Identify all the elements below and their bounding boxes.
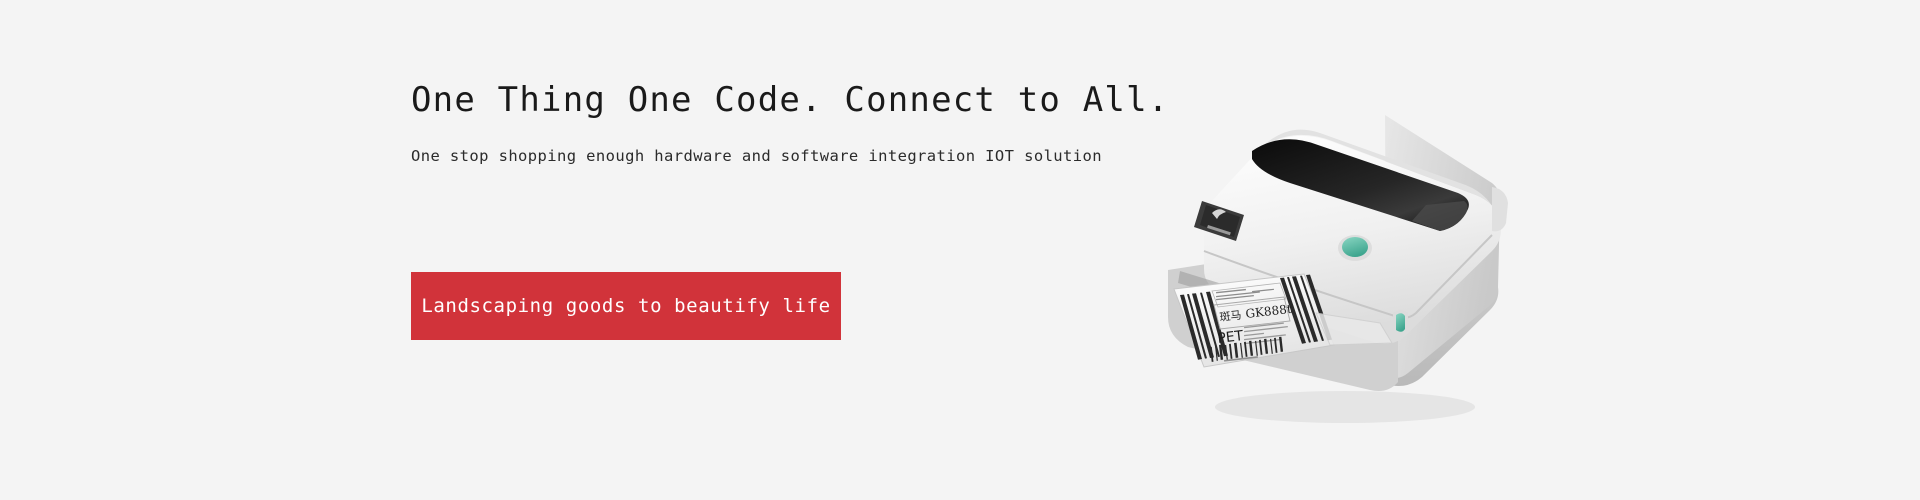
- page-title: One Thing One Code. Connect to All.: [411, 78, 1171, 122]
- hero-banner: One Thing One Code. Connect to All. One …: [0, 0, 1920, 500]
- cta-button-label: Landscaping goods to beautify life: [421, 295, 830, 317]
- product-shadow: [1215, 391, 1475, 423]
- hero-copy-block: One Thing One Code. Connect to All. One …: [411, 78, 1171, 168]
- power-button[interactable]: [1396, 313, 1405, 332]
- printer-rear-nub: [1492, 187, 1508, 231]
- cta-button[interactable]: Landscaping goods to beautify life: [411, 272, 841, 340]
- feed-button[interactable]: [1342, 237, 1368, 257]
- product-printer-image: 斑马 GK888t PET: [1140, 55, 1540, 455]
- hero-subtitle: One stop shopping enough hardware and so…: [411, 144, 1171, 168]
- label-brand-cn: 斑马: [1219, 309, 1242, 324]
